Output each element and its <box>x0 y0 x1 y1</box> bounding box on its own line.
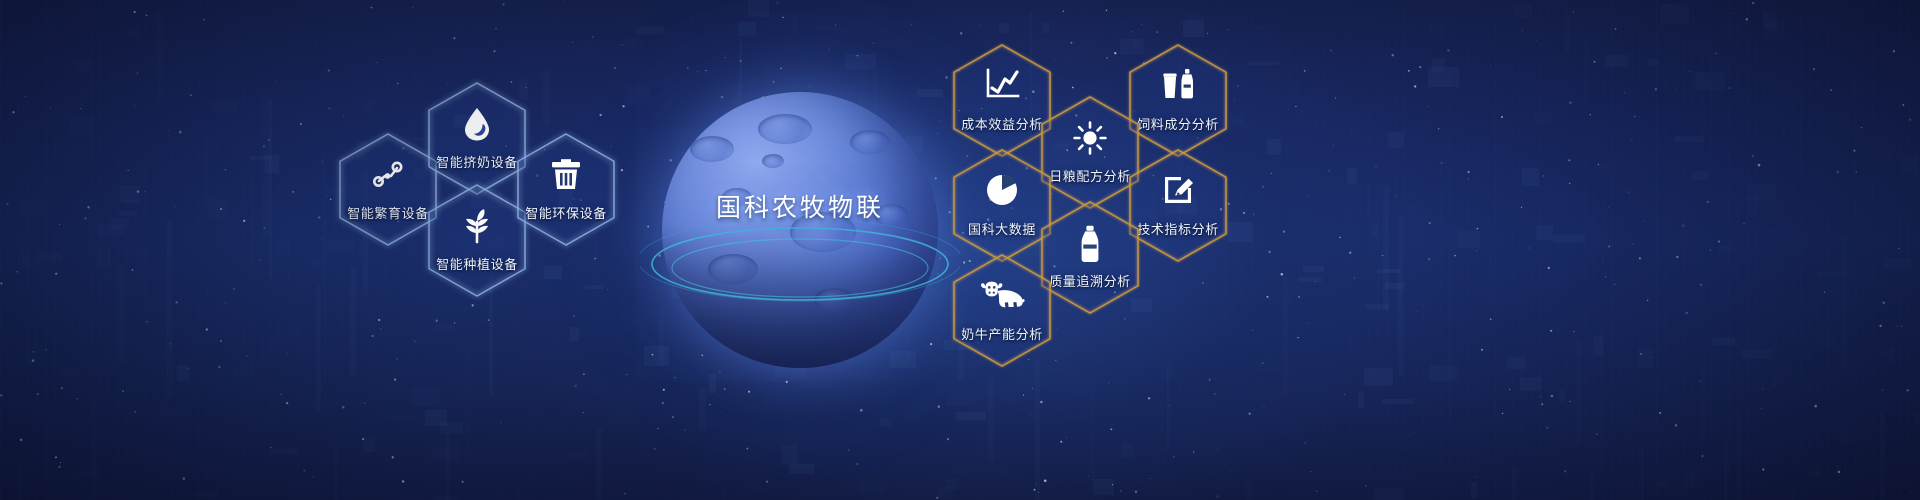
hex-cell-milking[interactable]: 智能挤奶设备 <box>428 82 526 195</box>
hex-cell-traceability[interactable]: 质量追溯分析 <box>1041 201 1139 314</box>
hex-cell-breeding[interactable]: 智能繁育设备 <box>339 133 437 246</box>
page-title: 国科农牧物联 <box>640 188 960 224</box>
hex-label-milking: 智能挤奶设备 <box>428 152 526 171</box>
trash-bin-icon <box>517 157 615 191</box>
hex-cell-ration-recipe[interactable]: 日粮配方分析 <box>1041 96 1139 209</box>
sun-icon <box>1041 120 1139 156</box>
hex-cell-big-data[interactable]: 国科大数据 <box>953 149 1051 262</box>
hex-cell-feed-content[interactable]: 饲料成分分析 <box>1129 44 1227 157</box>
bottle-cup-icon <box>1129 68 1227 100</box>
hex-label-cow-capacity: 奶牛产能分析 <box>953 324 1051 343</box>
hex-label-cost-benefit: 成本效益分析 <box>953 114 1051 133</box>
hex-label-eco: 智能环保设备 <box>517 203 615 222</box>
hex-outline <box>1129 44 1227 157</box>
hex-label-big-data: 国科大数据 <box>953 219 1051 238</box>
hex-outline <box>953 254 1051 367</box>
node-graph-icon <box>339 157 437 191</box>
hex-cell-eco[interactable]: 智能环保设备 <box>517 133 615 246</box>
hex-label-ration-recipe: 日粮配方分析 <box>1041 166 1139 185</box>
hex-label-feed-content: 饲料成分分析 <box>1129 114 1227 133</box>
sprout-icon <box>428 208 526 244</box>
line-chart-icon <box>953 68 1051 100</box>
hex-label-traceability: 质量追溯分析 <box>1041 271 1139 290</box>
infographic-banner: 国科农牧物联 智能繁育设备 智能挤奶设备 <box>0 0 1920 500</box>
pen-edit-icon <box>1129 173 1227 207</box>
orbit-ring <box>640 210 960 318</box>
cow-icon <box>953 278 1051 310</box>
milk-bottle-icon <box>1041 225 1139 263</box>
pie-chart-icon <box>953 173 1051 207</box>
hex-cell-cost-benefit[interactable]: 成本效益分析 <box>953 44 1051 157</box>
hex-cell-tech-index[interactable]: 技术指标分析 <box>1129 149 1227 262</box>
droplet-icon <box>428 106 526 142</box>
hex-outline <box>953 44 1051 157</box>
hex-label-breeding: 智能繁育设备 <box>339 203 437 222</box>
hex-cell-cow-capacity[interactable]: 奶牛产能分析 <box>953 254 1051 367</box>
hex-cell-planting[interactable]: 智能种植设备 <box>428 184 526 297</box>
hex-label-planting: 智能种植设备 <box>428 254 526 273</box>
hex-label-tech-index: 技术指标分析 <box>1129 219 1227 238</box>
